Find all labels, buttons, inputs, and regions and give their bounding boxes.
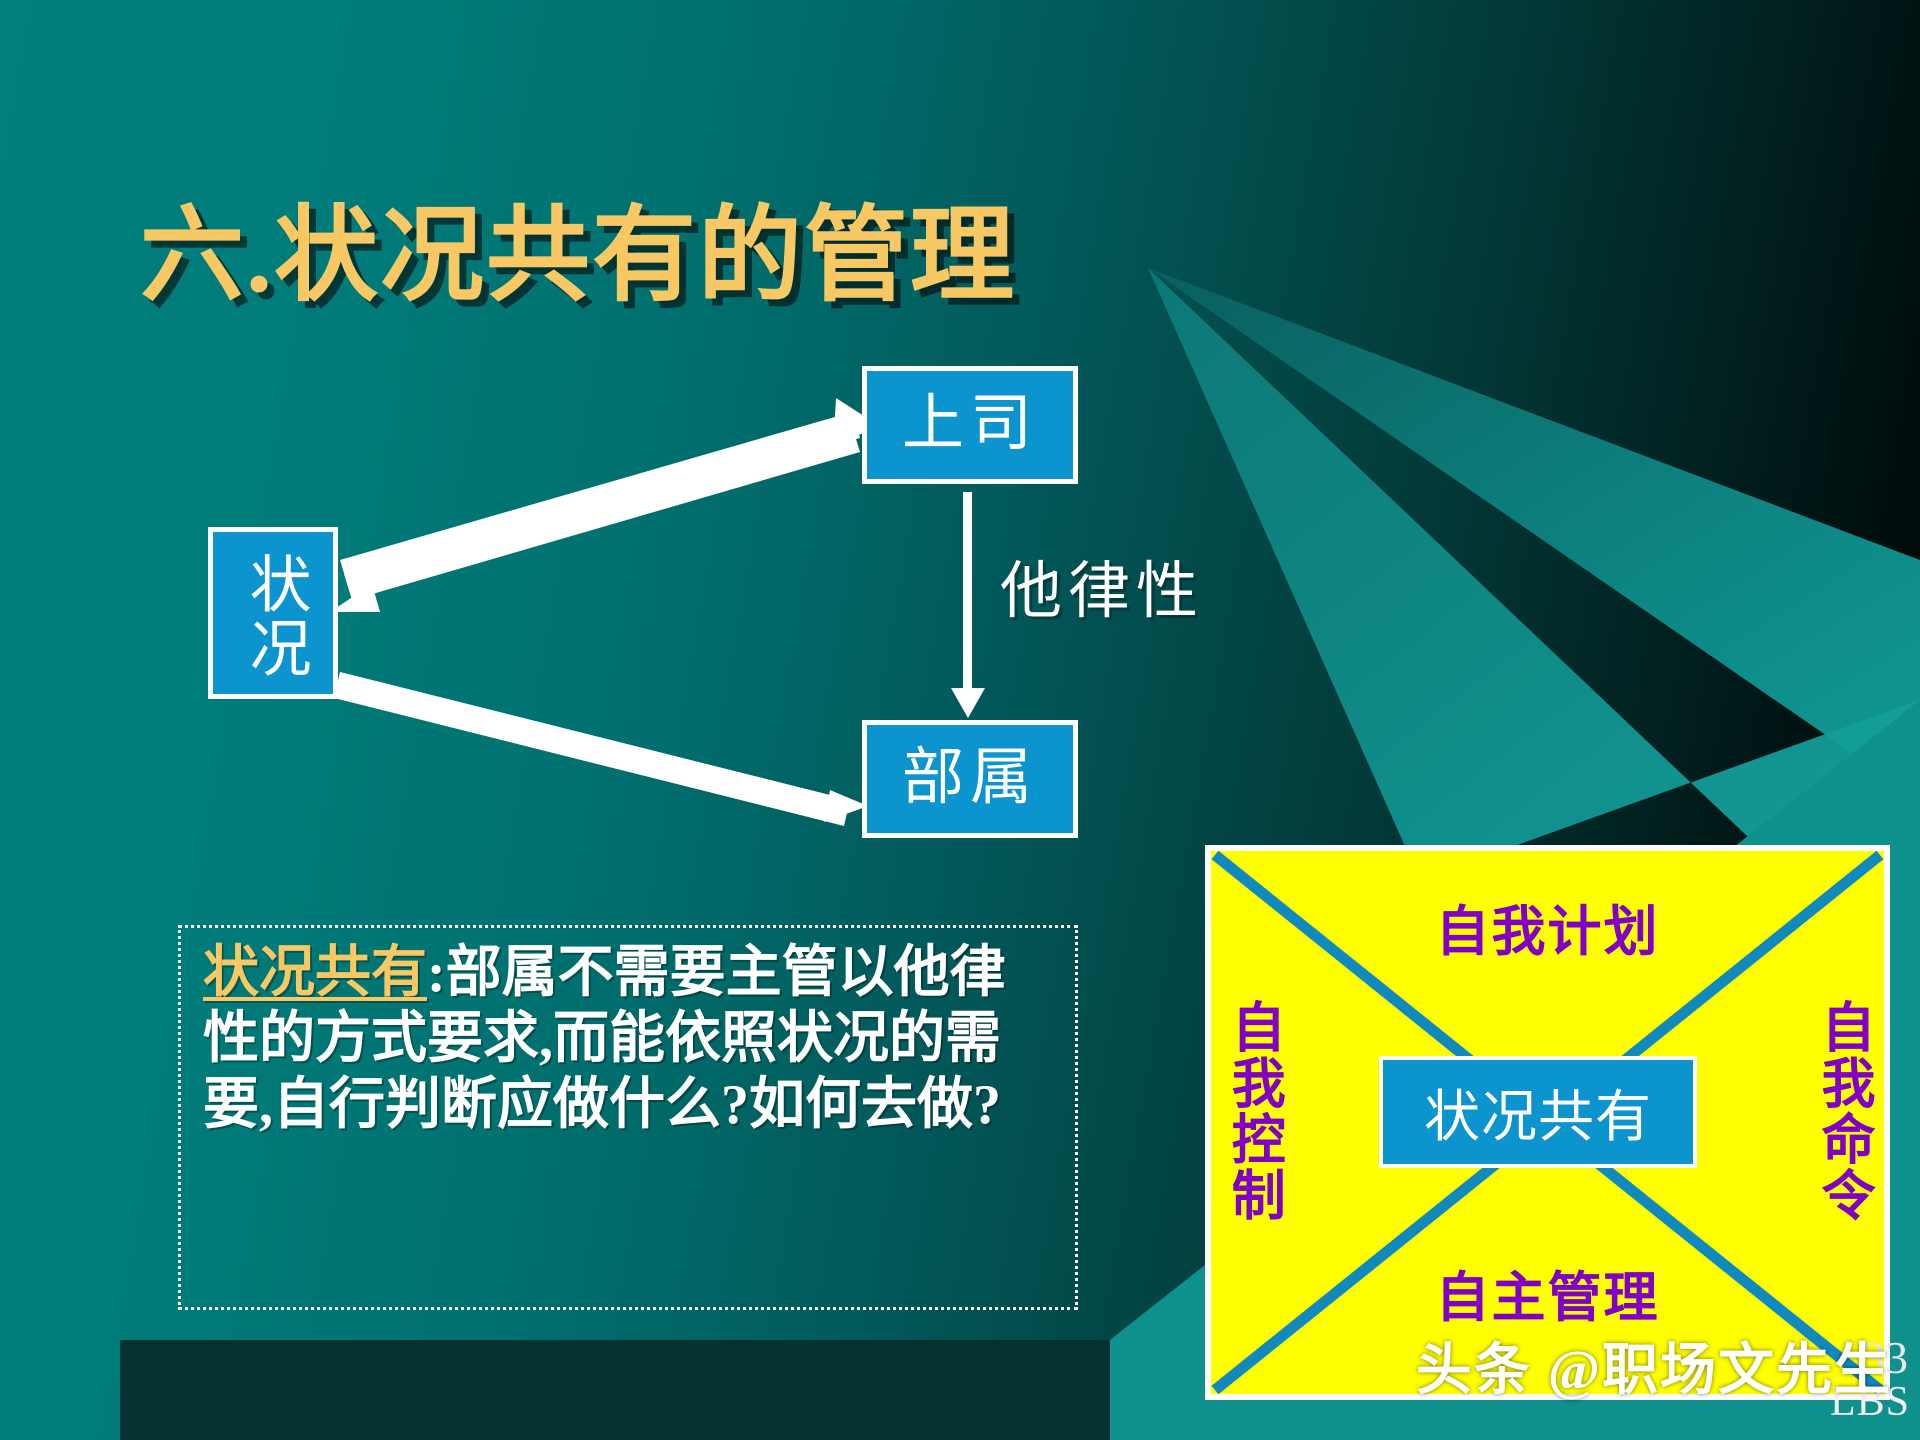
quadrant-label-bottom: 自主管理 [1436,1253,1660,1332]
diagram-node-subordinate[interactable]: 部属 [862,720,1078,838]
presentation-slide: 六.状况共有的管理 上司 部属 状况 他律性 状况共有:部属不需要主管以他律性的… [0,0,1920,1440]
quadrant-center-box[interactable]: 状况共有 [1379,1056,1697,1168]
quadrant-label-top: 自我计划 [1436,887,1660,966]
definition-term: 状况共有 [203,942,427,1004]
quadrant-center-label: 状况共有 [1424,1072,1652,1153]
self-management-quadrant-card: 自我计划 自我控制 自我命令 自主管理 状况共有 [1205,845,1890,1400]
watermark: 头条 @职场文先生 [1416,1325,1892,1406]
definition-callout-box: 状况共有:部属不需要主管以他律性的方式要求,而能依照状况的需要,自行判断应做什么… [178,925,1078,1310]
quadrant-label-right: 自我命令 [1817,999,1868,1223]
diagram-node-subordinate-label: 部属 [902,747,1038,810]
diagram-node-boss[interactable]: 上司 [862,366,1078,484]
quadrant-label-left: 自我控制 [1227,999,1278,1223]
diagram-node-situation[interactable]: 状况 [208,527,338,699]
diagram-edge-label-heteronomy: 他律性 [1000,540,1204,630]
diagram-node-boss-label: 上司 [902,393,1038,456]
diagram-node-situation-label: 状况 [241,552,304,680]
definition-separator: : [427,942,446,1004]
